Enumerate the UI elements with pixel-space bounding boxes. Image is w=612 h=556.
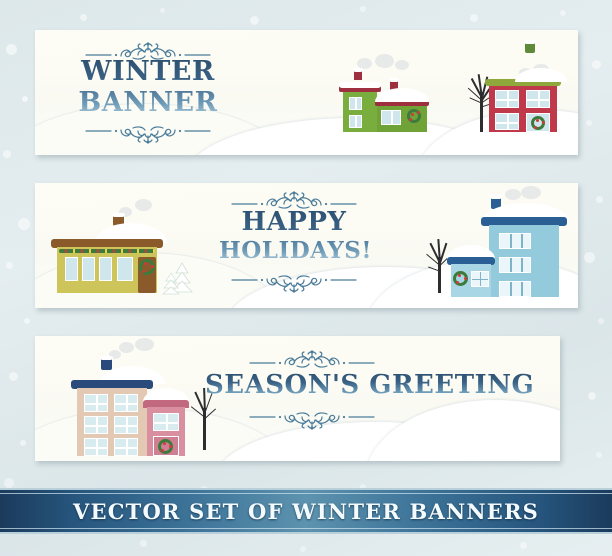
banner-headline: SEASON'S GREETINGS! xyxy=(205,372,535,398)
window xyxy=(381,110,401,125)
house-red xyxy=(485,40,567,132)
window xyxy=(495,113,519,130)
window xyxy=(114,416,138,434)
window xyxy=(99,257,112,281)
snow-cap xyxy=(389,78,399,82)
window xyxy=(117,257,133,281)
caption-text: VECTOR SET OF WINTER BANNERS xyxy=(73,499,539,524)
house-blue xyxy=(447,189,577,297)
chimney-smoke xyxy=(395,60,409,70)
snow-cap xyxy=(375,88,429,102)
window xyxy=(526,90,550,108)
chimney-smoke xyxy=(505,189,521,200)
headline-line-1: SEASON'S GREETINGS! xyxy=(205,372,535,398)
window xyxy=(471,271,489,287)
tree-bare xyxy=(185,388,225,450)
banner-winter[interactable]: WINTER BANNER xyxy=(35,30,578,155)
window xyxy=(499,257,531,273)
wreath-icon xyxy=(531,116,545,130)
chimney-smoke xyxy=(375,54,394,68)
banner-headline: HAPPY HOLIDAYS! xyxy=(219,209,369,262)
window xyxy=(495,90,519,108)
snow-cap xyxy=(490,195,502,199)
wreath-icon xyxy=(453,271,468,286)
wreath-icon xyxy=(158,439,173,454)
window xyxy=(499,233,531,249)
snow-cap xyxy=(353,68,363,72)
window xyxy=(82,257,95,281)
chimney-smoke xyxy=(135,199,152,211)
banner-headline: WINTER BANNER xyxy=(75,58,221,116)
chimney-smoke xyxy=(135,338,154,351)
snow-cap xyxy=(524,40,536,44)
window xyxy=(84,438,108,456)
window xyxy=(84,394,108,412)
snow-cap xyxy=(100,356,113,360)
window xyxy=(114,394,138,412)
wreath-icon xyxy=(139,259,155,275)
fir-tree xyxy=(161,271,181,300)
window xyxy=(349,97,362,110)
caption-bar: VECTOR SET OF WINTER BANNERS xyxy=(0,488,612,534)
wreath-icon xyxy=(407,109,421,123)
filigree-ornament-bottom xyxy=(83,122,213,148)
filigree-ornament-bottom xyxy=(247,408,377,434)
window xyxy=(84,416,108,434)
banner-holidays[interactable]: HAPPY HOLIDAYS! xyxy=(35,183,578,308)
banner-seasons[interactable]: SEASON'S GREETINGS! xyxy=(35,336,560,461)
garland xyxy=(59,249,155,253)
house-green xyxy=(335,58,430,132)
filigree-ornament-bottom xyxy=(229,271,359,297)
window xyxy=(65,257,78,281)
filigree-ornament-top xyxy=(247,346,377,372)
window xyxy=(114,438,138,456)
headline-line-2: HOLIDAYS! xyxy=(219,239,369,262)
window xyxy=(349,115,362,128)
headline-line-1: WINTER xyxy=(75,58,221,85)
house-olive xyxy=(43,195,203,297)
chimney-smoke xyxy=(119,342,134,353)
illustration-canvas: WINTER BANNER xyxy=(0,0,612,556)
chimney-smoke xyxy=(521,186,541,199)
snow-cap xyxy=(112,213,125,217)
headline-line-2: BANNER xyxy=(75,89,221,116)
window xyxy=(153,413,179,431)
snow-cap xyxy=(339,82,381,88)
headline-line-1: HAPPY xyxy=(219,209,369,235)
window xyxy=(499,281,531,297)
